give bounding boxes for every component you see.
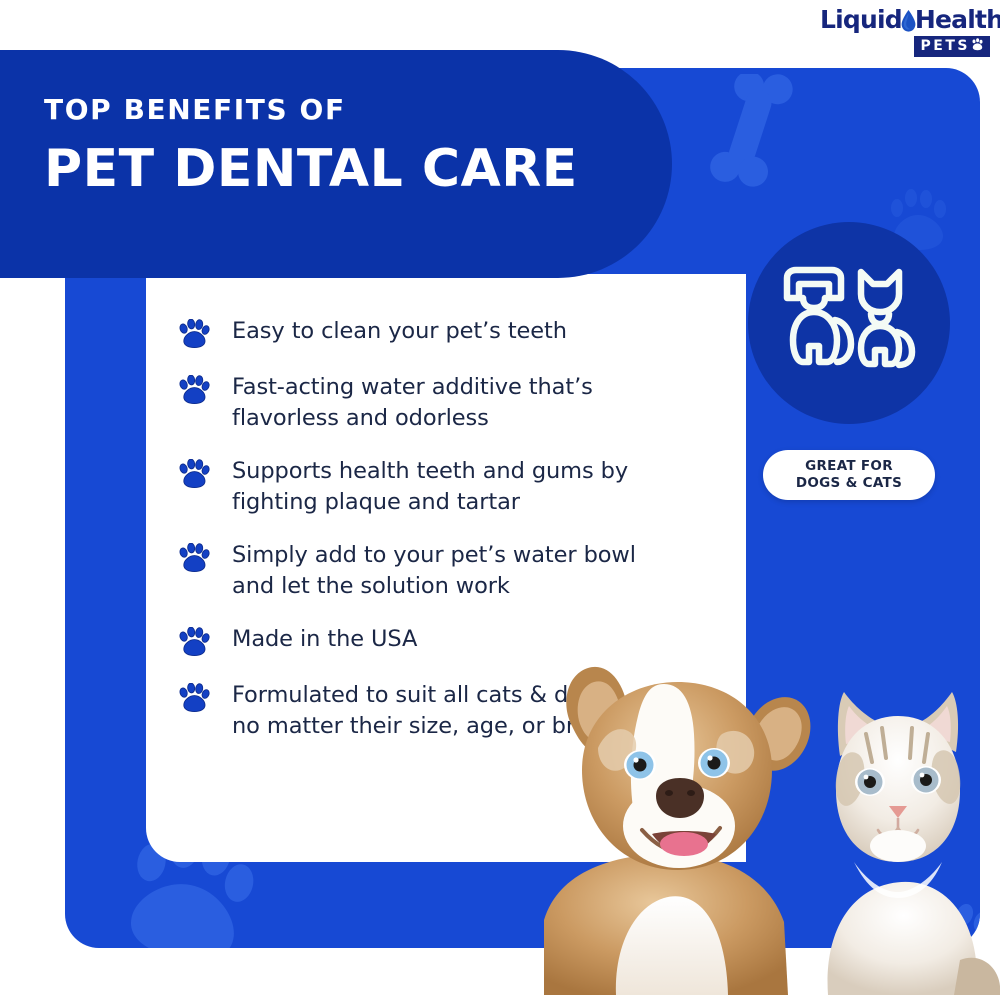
great-for-line-1: GREAT FOR [805, 458, 893, 475]
list-item: Simply add to your pet’s water bowl and … [178, 540, 648, 602]
dog-and-cat-outline-icon [779, 264, 919, 384]
status-badge: GREAT FOR DOGS & CATS [763, 450, 935, 500]
brand-logo: LiquidHealth® PETS [820, 4, 990, 52]
paw-icon [971, 38, 984, 55]
benefit-text: Simply add to your pet’s water bowl and … [232, 540, 648, 602]
dog-and-cat-icon-badge [748, 222, 950, 424]
list-item: Easy to clean your pet’s teeth [178, 316, 648, 350]
benefit-text: Easy to clean your pet’s teeth [232, 316, 648, 347]
paw-print-icon [178, 319, 210, 349]
paw-print-icon [178, 375, 210, 405]
paw-print-icon [178, 543, 210, 573]
brand-wordmark-liquid: Liquid [820, 5, 902, 34]
benefit-text: Supports health teeth and gums by fighti… [232, 456, 648, 518]
paw-print-icon [178, 683, 210, 713]
paw-print-icon [178, 627, 210, 657]
header-text-group: TOP BENEFITS OF PET DENTAL CARE [44, 94, 578, 198]
bone-watermark-icon [705, 74, 815, 194]
list-item: Supports health teeth and gums by fighti… [178, 456, 648, 518]
brand-pets-badge: PETS [914, 36, 990, 57]
brand-wordmark-health: Health [915, 5, 1000, 34]
list-item: Fast-acting water additive that’s flavor… [178, 372, 648, 434]
paw-print-icon [178, 459, 210, 489]
water-drop-icon [901, 10, 916, 32]
poster-root: LiquidHealth® PETS [0, 0, 1000, 995]
brand-wordmark: LiquidHealth® [820, 4, 990, 33]
dog-and-cat-photo [536, 630, 1000, 995]
page-title: PET DENTAL CARE [44, 140, 578, 198]
header-band: TOP BENEFITS OF PET DENTAL CARE [0, 50, 672, 278]
benefit-text: Fast-acting water additive that’s flavor… [232, 372, 648, 434]
brand-pets-label: PETS [921, 38, 970, 54]
header-kicker: TOP BENEFITS OF [44, 94, 578, 126]
great-for-line-2: DOGS & CATS [796, 475, 902, 492]
